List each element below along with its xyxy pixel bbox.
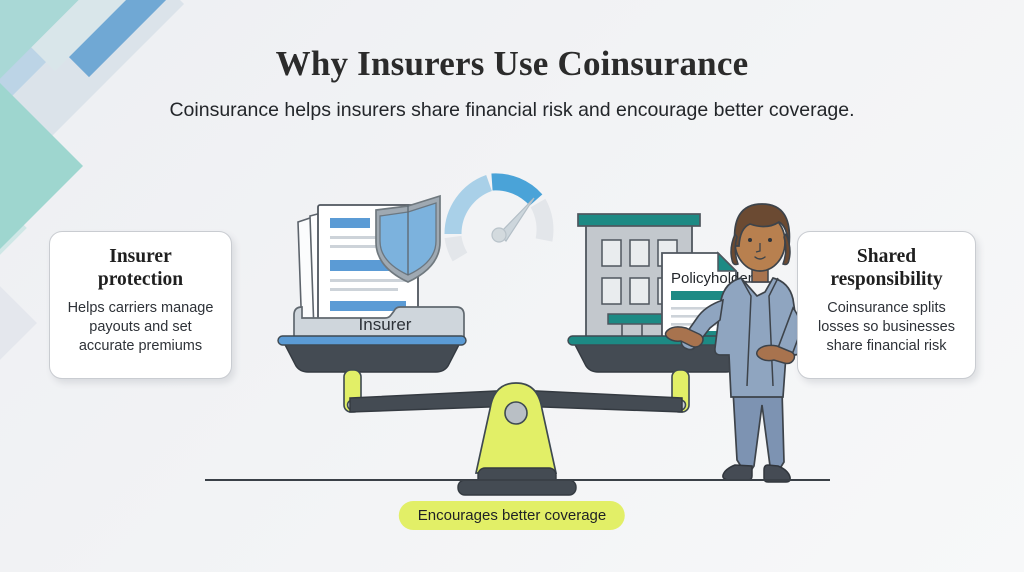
gauge-icon [453, 182, 545, 257]
card-title-line2: responsibility [830, 269, 942, 290]
infographic-canvas: Why Insurers Use Coinsurance Coinsurance… [0, 0, 1024, 572]
card-title-line1: Shared [857, 246, 916, 267]
card-title: Insurer protection [62, 246, 219, 292]
balance-scale-illustration: Insurer [190, 150, 850, 500]
ground-line [205, 479, 830, 481]
header: Why Insurers Use Coinsurance Coinsurance… [0, 44, 1024, 122]
card-title-line1: Insurer [109, 246, 171, 267]
page-subtitle: Coinsurance helps insurers share financi… [0, 99, 1024, 122]
balance-scale-frame [344, 370, 689, 495]
left-scale-pan [278, 336, 466, 372]
diamond-shape-gray [0, 231, 37, 415]
card-body: Coinsurance splits losses so businesses … [810, 299, 963, 357]
page-title: Why Insurers Use Coinsurance [0, 44, 1024, 84]
left-pan-label: Insurer [359, 315, 412, 334]
card-shared-responsibility: Shared responsibility Coinsurance splits… [797, 231, 976, 379]
card-title-line2: protection [98, 269, 183, 290]
status-badge-encourages-better-coverage: Encourages better coverage [399, 501, 625, 530]
card-title: Shared responsibility [810, 246, 963, 292]
card-body: Helps carriers manage payouts and set ac… [62, 299, 219, 357]
card-insurer-protection: Insurer protection Helps carriers manage… [49, 231, 232, 379]
